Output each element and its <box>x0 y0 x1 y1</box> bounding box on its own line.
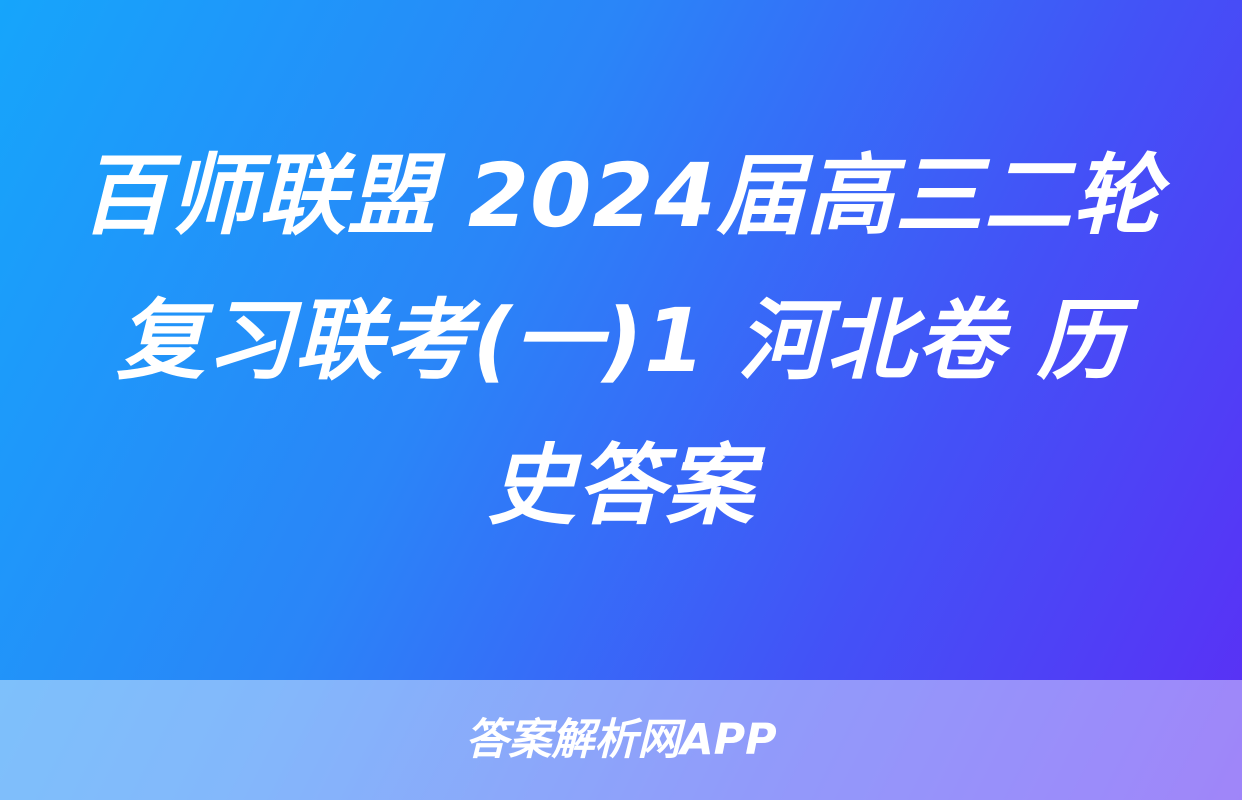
exam-answer-cover-card: 百师联盟 2024届高三二轮复习联考(一)1 河北卷 历史答案 答案解析网APP <box>0 0 1242 800</box>
page-title: 百师联盟 2024届高三二轮复习联考(一)1 河北卷 历史答案 <box>79 123 1164 558</box>
watermark-band: 答案解析网APP <box>0 680 1242 800</box>
watermark-label: 答案解析网APP <box>465 719 776 762</box>
title-block: 百师联盟 2024届高三二轮复习联考(一)1 河北卷 历史答案 <box>0 0 1242 680</box>
